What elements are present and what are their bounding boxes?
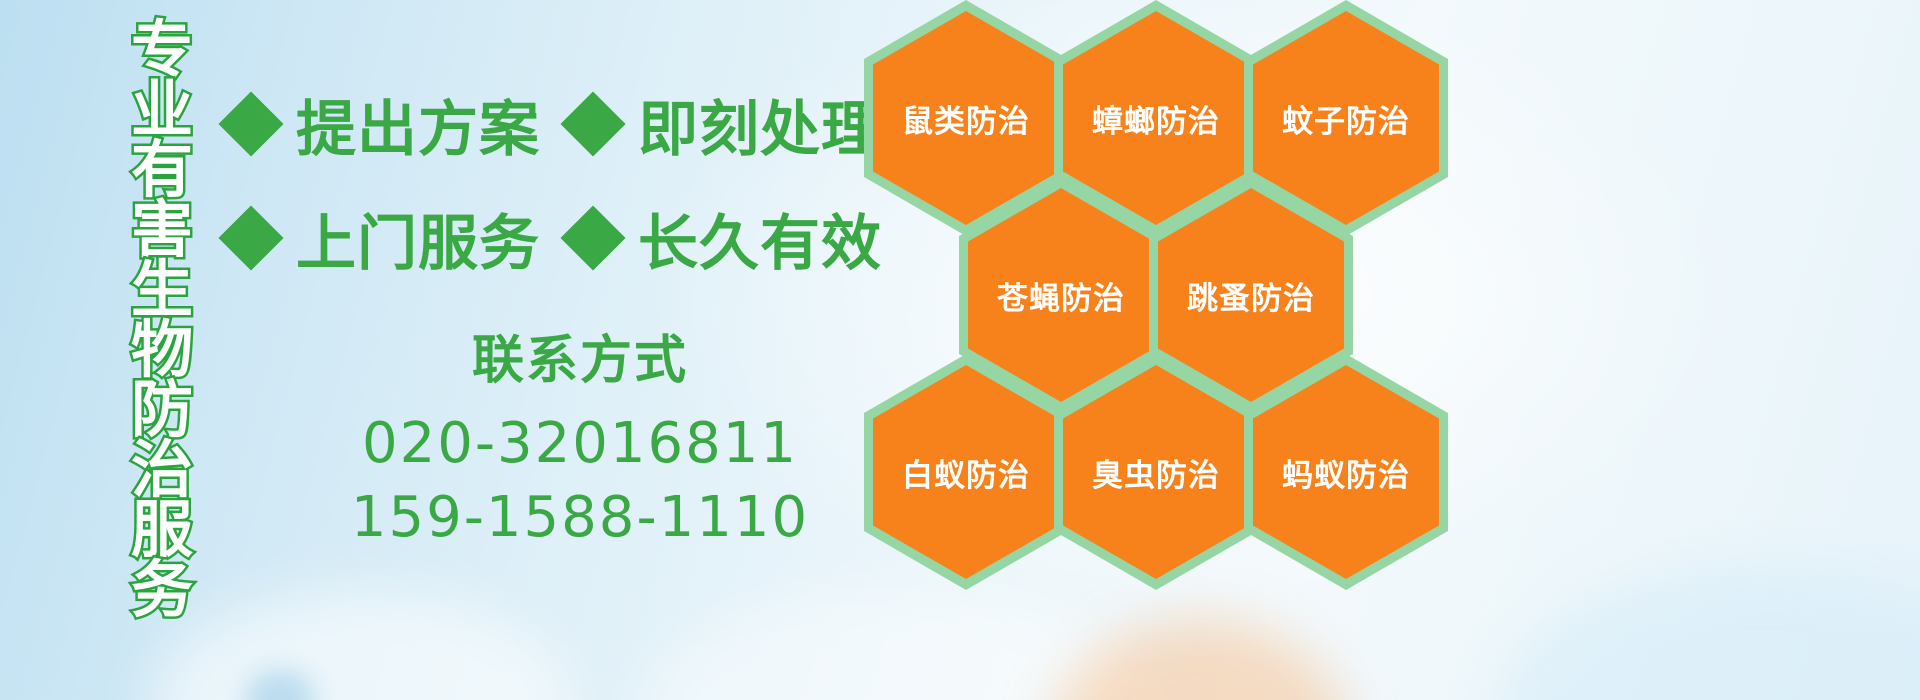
diamond-bullet-icon bbox=[560, 91, 625, 156]
diamond-bullet-icon bbox=[218, 205, 283, 270]
service-label: 跳蚤防治 bbox=[1187, 273, 1315, 318]
phone-number-landline[interactable]: 020-32016811 bbox=[300, 407, 860, 481]
service-hex-cell[interactable]: 蚂蚁防治 bbox=[1244, 354, 1448, 590]
vertical-slogan-char: 治 bbox=[131, 440, 193, 500]
vertical-slogan-char: 业 bbox=[131, 80, 193, 140]
feature-row: 上门服务 长久有效 bbox=[228, 192, 868, 284]
diamond-bullet-icon bbox=[560, 205, 625, 270]
contact-block: 联系方式 020-32016811 159-1588-1110 bbox=[300, 318, 860, 555]
feature-row: 提出方案 即刻处理 bbox=[228, 78, 868, 170]
vertical-slogan-char: 有 bbox=[131, 140, 193, 200]
vertical-slogan-char: 生 bbox=[131, 260, 193, 320]
vertical-slogan-char: 防 bbox=[131, 380, 193, 440]
feature-label: 上门服务 bbox=[296, 195, 540, 282]
diamond-bullet-icon bbox=[218, 91, 283, 156]
background-blur-blob bbox=[245, 670, 315, 700]
background-blur-blob bbox=[150, 590, 570, 700]
vertical-slogan-char: 服 bbox=[131, 500, 193, 560]
contact-title: 联系方式 bbox=[300, 318, 860, 393]
service-label: 白蚁防治 bbox=[902, 450, 1030, 495]
vertical-slogan: 专 业 有 害 生 物 防 治 服 务 bbox=[108, 20, 216, 560]
pest-control-banner: 专 业 有 害 生 物 防 治 服 务 提出方案 即刻处理 上门服务 长久有效 … bbox=[0, 0, 1920, 700]
phone-number-mobile[interactable]: 159-1588-1110 bbox=[300, 481, 860, 555]
feature-label: 提出方案 bbox=[296, 81, 540, 168]
feature-label: 长久有效 bbox=[638, 195, 882, 282]
vertical-slogan-char: 害 bbox=[131, 200, 193, 260]
vertical-slogan-char: 物 bbox=[131, 320, 193, 380]
service-label: 鼠类防治 bbox=[902, 96, 1030, 141]
hexagon-shape: 蚂蚁防治 bbox=[1244, 354, 1448, 590]
background-blur-blob bbox=[1500, 570, 1920, 700]
vertical-slogan-char: 专 bbox=[131, 20, 193, 80]
service-hex-cell[interactable]: 臭虫防治 bbox=[1054, 354, 1258, 590]
service-label: 蚂蚁防治 bbox=[1282, 450, 1410, 495]
feature-label: 即刻处理 bbox=[638, 81, 882, 168]
hexagon-shape: 臭虫防治 bbox=[1054, 354, 1258, 590]
service-label: 臭虫防治 bbox=[1092, 450, 1220, 495]
feature-list: 提出方案 即刻处理 上门服务 长久有效 bbox=[228, 78, 868, 306]
vertical-slogan-char: 务 bbox=[131, 560, 193, 620]
hexagon-shape: 白蚁防治 bbox=[864, 354, 1068, 590]
service-label: 蚊子防治 bbox=[1282, 96, 1410, 141]
service-honeycomb: 鼠类防治 蟑螂防治 蚊子防治 苍蝇防治 跳蚤防治 bbox=[856, 0, 1476, 700]
service-label: 蟑螂防治 bbox=[1092, 96, 1220, 141]
service-hex-cell[interactable]: 白蚁防治 bbox=[864, 354, 1068, 590]
service-label: 苍蝇防治 bbox=[997, 273, 1125, 318]
